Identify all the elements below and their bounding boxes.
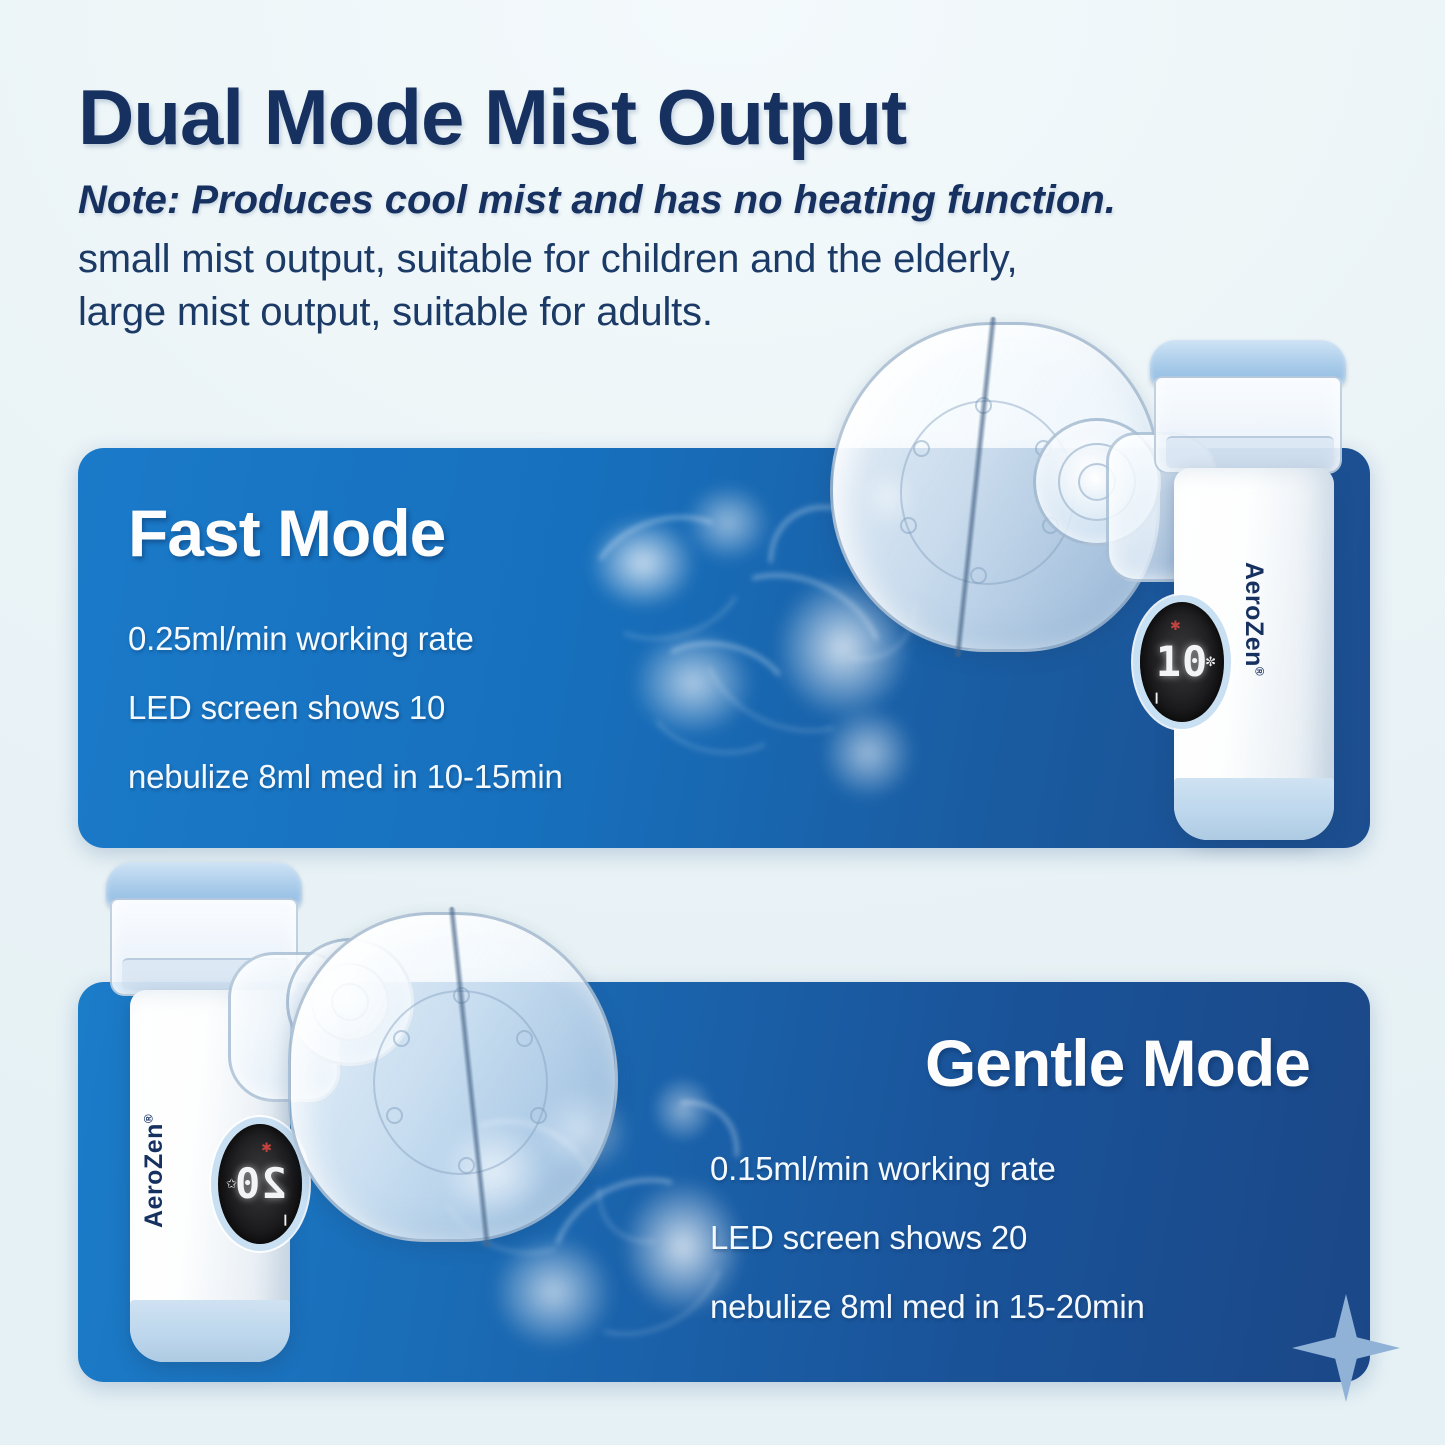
subtitle-line-1: small mist output, suitable for children… (78, 233, 1378, 286)
brand-registered-mark: ® (1252, 667, 1266, 676)
led-power-icon: ✱ (261, 1140, 272, 1156)
nebulizer-device-fast: 10 ✱ ✼ ❙ AeroZen® (1122, 340, 1372, 852)
device-brand-gentle: AeroZen® (140, 1114, 169, 1228)
fast-bullet-time: nebulize 8ml med in 10-15min (128, 758, 563, 796)
mask-vent-hole (970, 567, 987, 584)
led-mode-star-icon: ✼ (1205, 654, 1216, 670)
brand-text: AeroZen (140, 1123, 168, 1228)
gentle-bullet-rate: 0.15ml/min working rate (710, 1150, 1145, 1188)
mask-vent-hole (530, 1107, 547, 1124)
subtitle-line-2: large mist output, suitable for adults. (78, 286, 1378, 339)
device-brand-fast: AeroZen® (1239, 562, 1268, 676)
brand-text: AeroZen (1240, 562, 1268, 667)
led-value-gentle: 20 (234, 1163, 287, 1205)
face-mask-gentle (288, 912, 618, 1242)
header-block: Dual Mode Mist Output Note: Produces coo… (78, 78, 1378, 338)
page-title: Dual Mode Mist Output (78, 78, 1378, 156)
brand-registered-mark: ® (142, 1114, 156, 1123)
mask-vent-hole (900, 517, 917, 534)
device-medicine-chamber (1154, 376, 1342, 474)
led-battery-icon: ❙ (1152, 691, 1161, 704)
device-led-screen-fast: 10 ✱ ✼ ❙ (1140, 602, 1224, 722)
gentle-mode-bullets: 0.15ml/min working rate LED screen shows… (710, 1150, 1145, 1326)
mask-vent-hole (516, 1030, 533, 1047)
mask-vent-hole (393, 1030, 410, 1047)
fast-mode-title: Fast Mode (128, 500, 445, 566)
note-line: Note: Produces cool mist and has no heat… (78, 178, 1378, 223)
device-base (1174, 778, 1334, 840)
mask-vent-hole (458, 1157, 475, 1174)
subtitle-block: small mist output, suitable for children… (78, 233, 1378, 339)
gentle-bullet-time: nebulize 8ml med in 15-20min (710, 1288, 1145, 1326)
led-power-icon: ✱ (1170, 618, 1181, 634)
mask-vent-hole (913, 440, 930, 457)
device-base (130, 1300, 290, 1362)
led-mode-star-icon: ✩ (226, 1176, 237, 1192)
fast-mode-bullets: 0.25ml/min working rate LED screen shows… (128, 620, 563, 796)
fast-bullet-rate: 0.25ml/min working rate (128, 620, 563, 658)
mask-vent-hole (386, 1107, 403, 1124)
gentle-bullet-led: LED screen shows 20 (710, 1219, 1145, 1257)
led-value-fast: 10 (1156, 641, 1209, 683)
fast-bullet-led: LED screen shows 10 (128, 689, 563, 727)
gentle-mode-title: Gentle Mode (925, 1030, 1310, 1096)
